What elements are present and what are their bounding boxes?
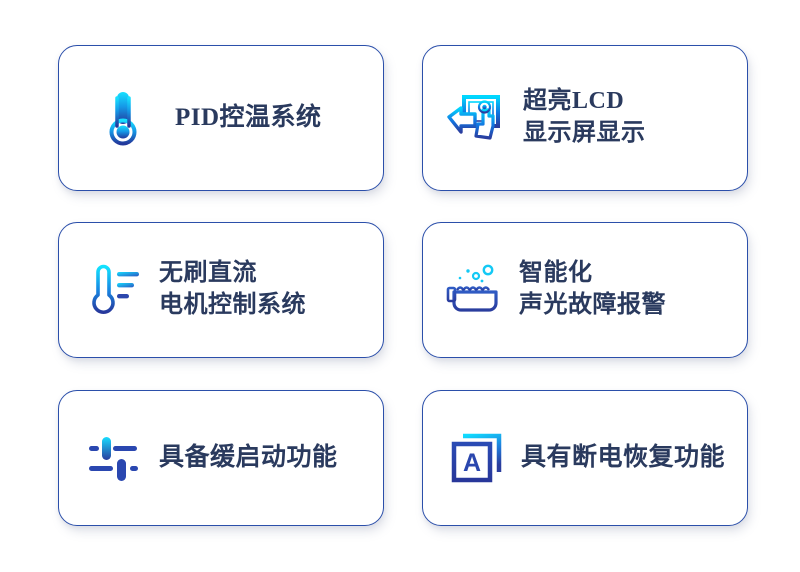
feature-card-label: 无刷直流 电机控制系统 <box>159 258 306 321</box>
svg-text:A: A <box>463 449 481 477</box>
thermometer-filled-icon <box>93 88 153 148</box>
feature-card-label: 具备缓启动功能 <box>159 442 338 475</box>
touchscreen-hand-icon <box>445 88 505 148</box>
stacked-squares-a-icon: A <box>447 428 507 488</box>
feature-card-label: PID控温系统 <box>175 102 322 135</box>
feature-card-label: 智能化 声光故障报警 <box>519 258 666 321</box>
feature-card-brushless-dc-motor[interactable]: 无刷直流 电机控制系统 <box>58 222 384 358</box>
feature-card-label: 具有断电恢复功能 <box>521 442 725 475</box>
feature-card-pid-temperature-control[interactable]: PID控温系统 <box>58 45 384 191</box>
feature-card-smart-alarm[interactable]: 智能化 声光故障报警 <box>422 222 748 358</box>
bathtub-bubbles-icon <box>445 260 505 320</box>
feature-card-soft-start[interactable]: 具备缓启动功能 <box>58 390 384 526</box>
feature-card-power-outage-recovery[interactable]: A 具有断电恢复功能 <box>422 390 748 526</box>
slider-controls-icon <box>85 428 145 488</box>
feature-card-ultra-bright-lcd[interactable]: 超亮LCD 显示屏显示 <box>422 45 748 191</box>
feature-card-label: 超亮LCD 显示屏显示 <box>523 86 646 149</box>
feature-grid: PID控温系统 <box>0 0 800 572</box>
thermometer-outline-lines-icon <box>85 260 145 320</box>
